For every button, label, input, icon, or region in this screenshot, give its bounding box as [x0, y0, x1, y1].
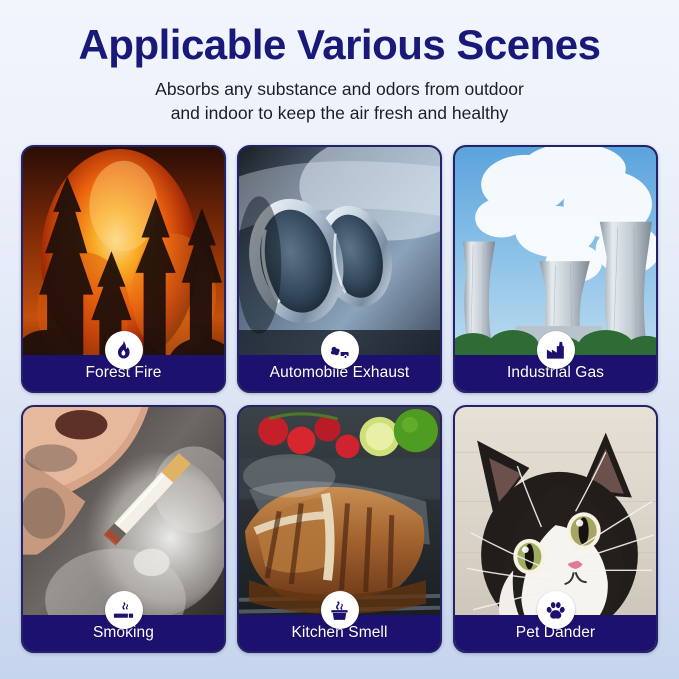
flame-icon	[105, 331, 143, 369]
scene-card-automobile-exhaust[interactable]: Automobile Exhaust	[237, 145, 442, 393]
page-title: Applicable Various Scenes	[0, 22, 679, 68]
scene-card-industrial-gas[interactable]: Industrial Gas	[453, 145, 658, 393]
subtitle-line-2: and indoor to keep the air fresh and hea…	[171, 103, 509, 123]
factory-icon	[537, 331, 575, 369]
paw-print-icon	[537, 591, 575, 629]
scene-card-pet-dander[interactable]: Pet Dander	[453, 405, 658, 653]
car-exhaust-icon	[321, 331, 359, 369]
scene-card-forest-fire[interactable]: Forest Fire	[21, 145, 226, 393]
page-header: Applicable Various Scenes Absorbs any su…	[0, 0, 679, 126]
scene-card-kitchen-smell[interactable]: Kitchen Smell	[237, 405, 442, 653]
page-subtitle: Absorbs any substance and odors from out…	[0, 78, 679, 126]
subtitle-line-1: Absorbs any substance and odors from out…	[155, 79, 524, 99]
cigarette-icon	[105, 591, 143, 629]
scene-card-smoking[interactable]: Smoking	[21, 405, 226, 653]
scene-card-grid: Forest Fire	[21, 145, 658, 653]
cooking-pot-icon	[321, 591, 359, 629]
